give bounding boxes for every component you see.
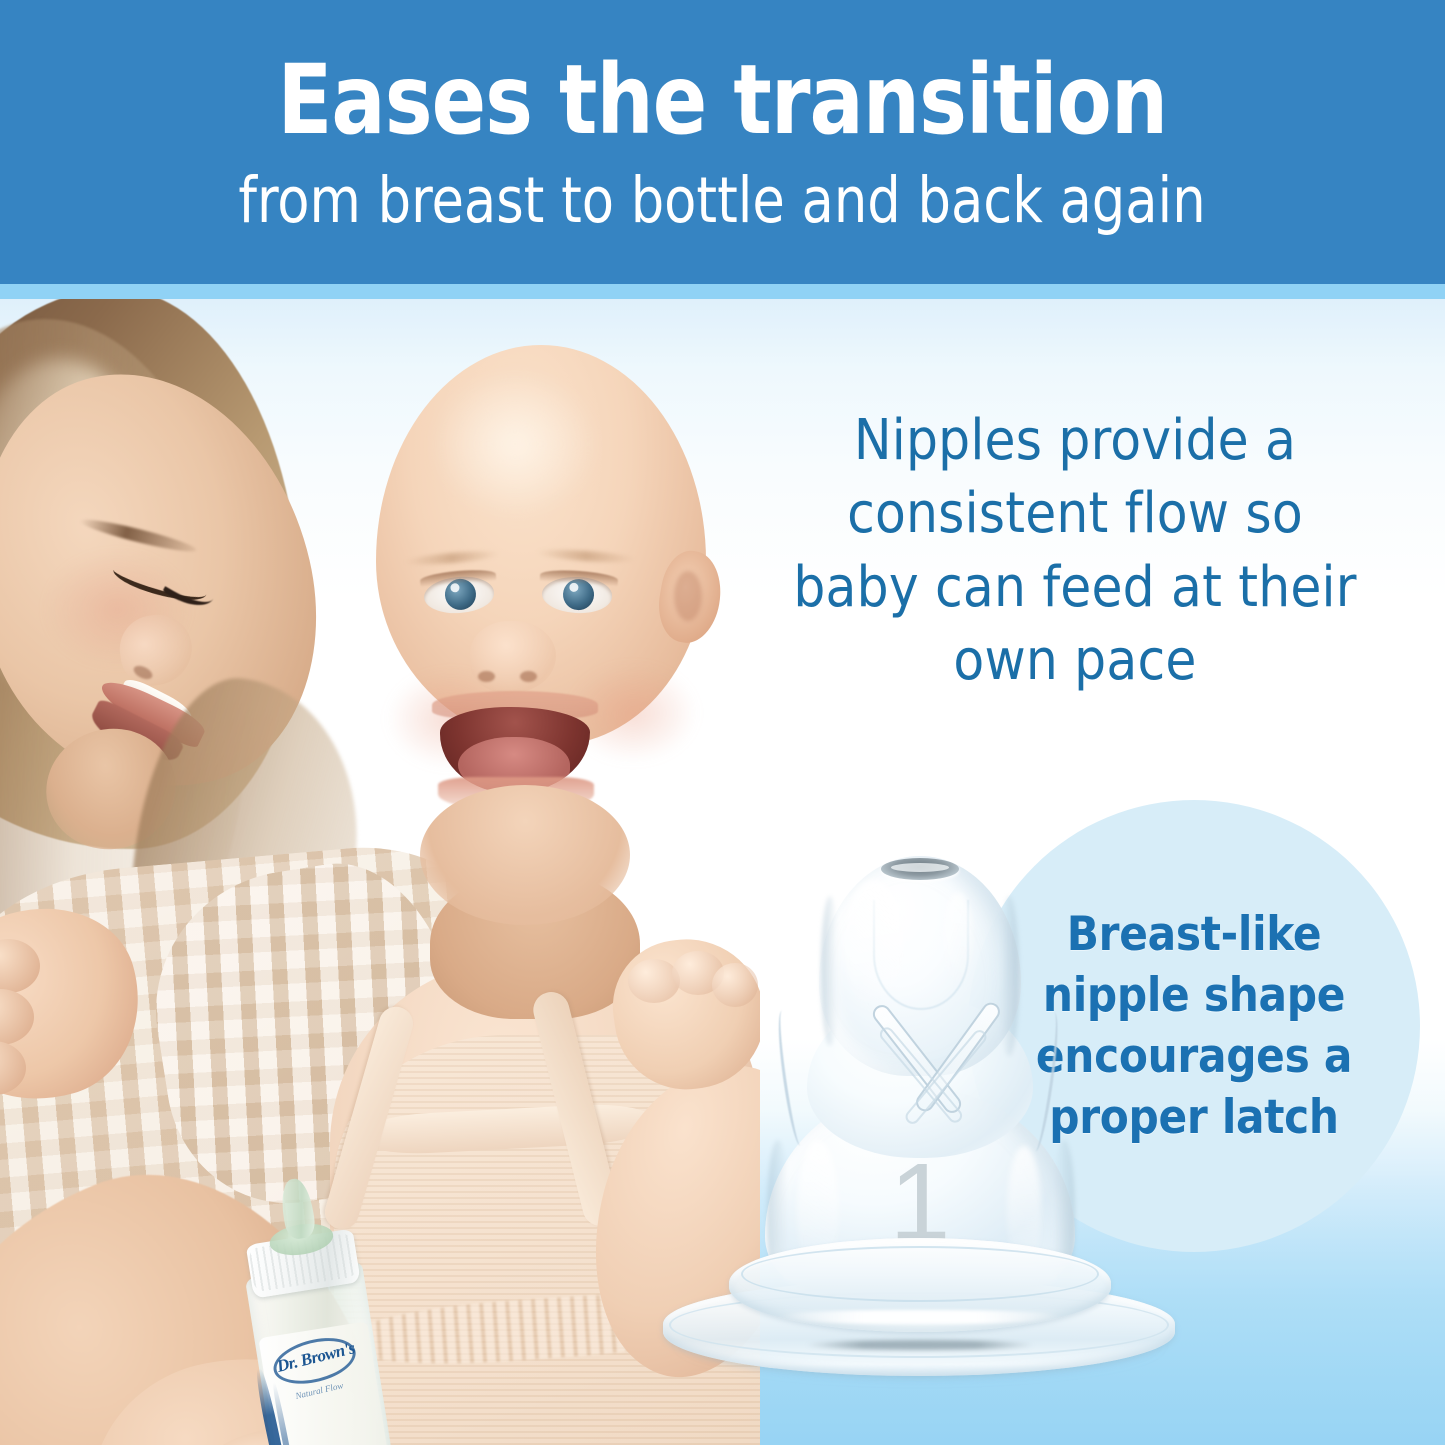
baby-head-highlight: [430, 369, 600, 519]
header-subtitle: from breast to bottle and back again: [239, 168, 1206, 234]
nipple-vent-arm-left: [772, 1010, 809, 1147]
baby-nostril-left: [478, 671, 495, 682]
product-flange-shadow-line: [805, 1340, 1035, 1350]
product-nipple-hero: 1: [655, 840, 1185, 1400]
product-feature-graphic: Dr. Brown's Natural Flow Eases the trans…: [0, 0, 1445, 1445]
feature-headline-copy: Nipples provide a consistent flow so bab…: [790, 404, 1360, 697]
baby-chin: [420, 785, 630, 925]
product-inner-flange-rim: [741, 1246, 1099, 1302]
nipple-bulb-highlight-secondary: [943, 892, 973, 988]
product-flange-highlight: [775, 1310, 1065, 1324]
nipple-bulb-edge-left: [821, 896, 839, 1046]
nipple-bulb-edge-right: [999, 896, 1019, 1056]
baby-nostril-right: [520, 671, 537, 682]
header-title: Eases the transition: [278, 52, 1168, 148]
mother-and-baby-photo: Dr. Brown's Natural Flow: [0, 299, 760, 1445]
header-banner: Eases the transition from breast to bott…: [0, 0, 1445, 284]
header-accent-stripe: [0, 284, 1445, 299]
baby-inner-ear: [674, 571, 702, 621]
nipple-bulb-highlight: [843, 880, 905, 1010]
nipple-tip-opening: [881, 858, 959, 880]
